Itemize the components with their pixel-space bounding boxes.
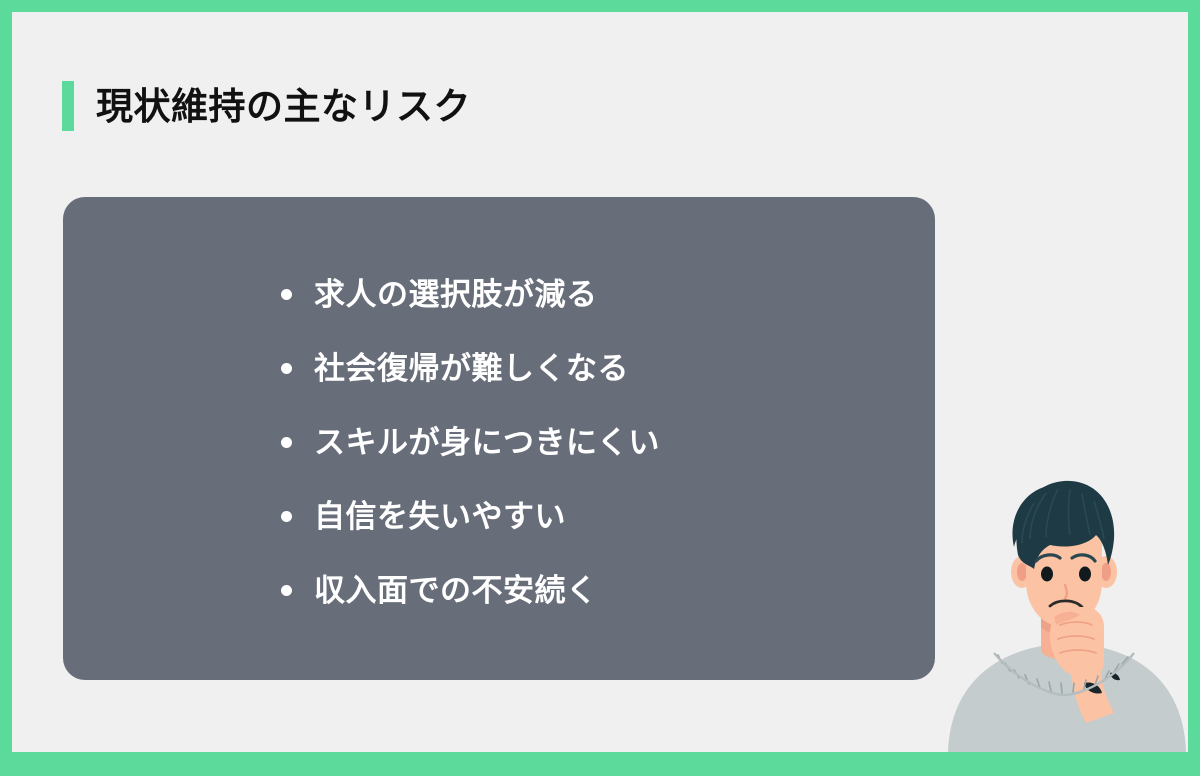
thinking-person-illustration [938, 477, 1188, 752]
bullet-icon [281, 363, 292, 374]
list-item-label: スキルが身につきにくい [314, 427, 660, 458]
risk-card: 求人の選択肢が減る 社会復帰が難しくなる スキルが身につきにくい 自信を失いやす… [63, 197, 935, 680]
risk-list: 求人の選択肢が減る 社会復帰が難しくなる スキルが身につきにくい 自信を失いやす… [281, 257, 660, 627]
list-item: 収入面での不安続く [281, 553, 660, 627]
page-title: 現状維持の主なリスク [96, 88, 471, 125]
list-item: 求人の選択肢が減る [281, 257, 660, 331]
list-item-label: 社会復帰が難しくなる [314, 353, 629, 384]
list-item-label: 自信を失いやすい [314, 501, 566, 532]
list-item-label: 収入面での不安続く [314, 575, 598, 606]
slide-root: 現状維持の主なリスク 求人の選択肢が減る 社会復帰が難しくなる スキルが身につき… [0, 0, 1200, 776]
list-item-label: 求人の選択肢が減る [314, 279, 598, 310]
slide-content-area: 現状維持の主なリスク 求人の選択肢が減る 社会復帰が難しくなる スキルが身につき… [12, 12, 1188, 752]
list-item: 自信を失いやすい [281, 479, 660, 553]
title-accent-bar [62, 81, 74, 131]
bullet-icon [281, 585, 292, 596]
bullet-icon [281, 437, 292, 448]
page-title-row: 現状維持の主なリスク [62, 78, 471, 134]
list-item: スキルが身につきにくい [281, 405, 660, 479]
list-item: 社会復帰が難しくなる [281, 331, 660, 405]
bullet-icon [281, 289, 292, 300]
bullet-icon [281, 511, 292, 522]
